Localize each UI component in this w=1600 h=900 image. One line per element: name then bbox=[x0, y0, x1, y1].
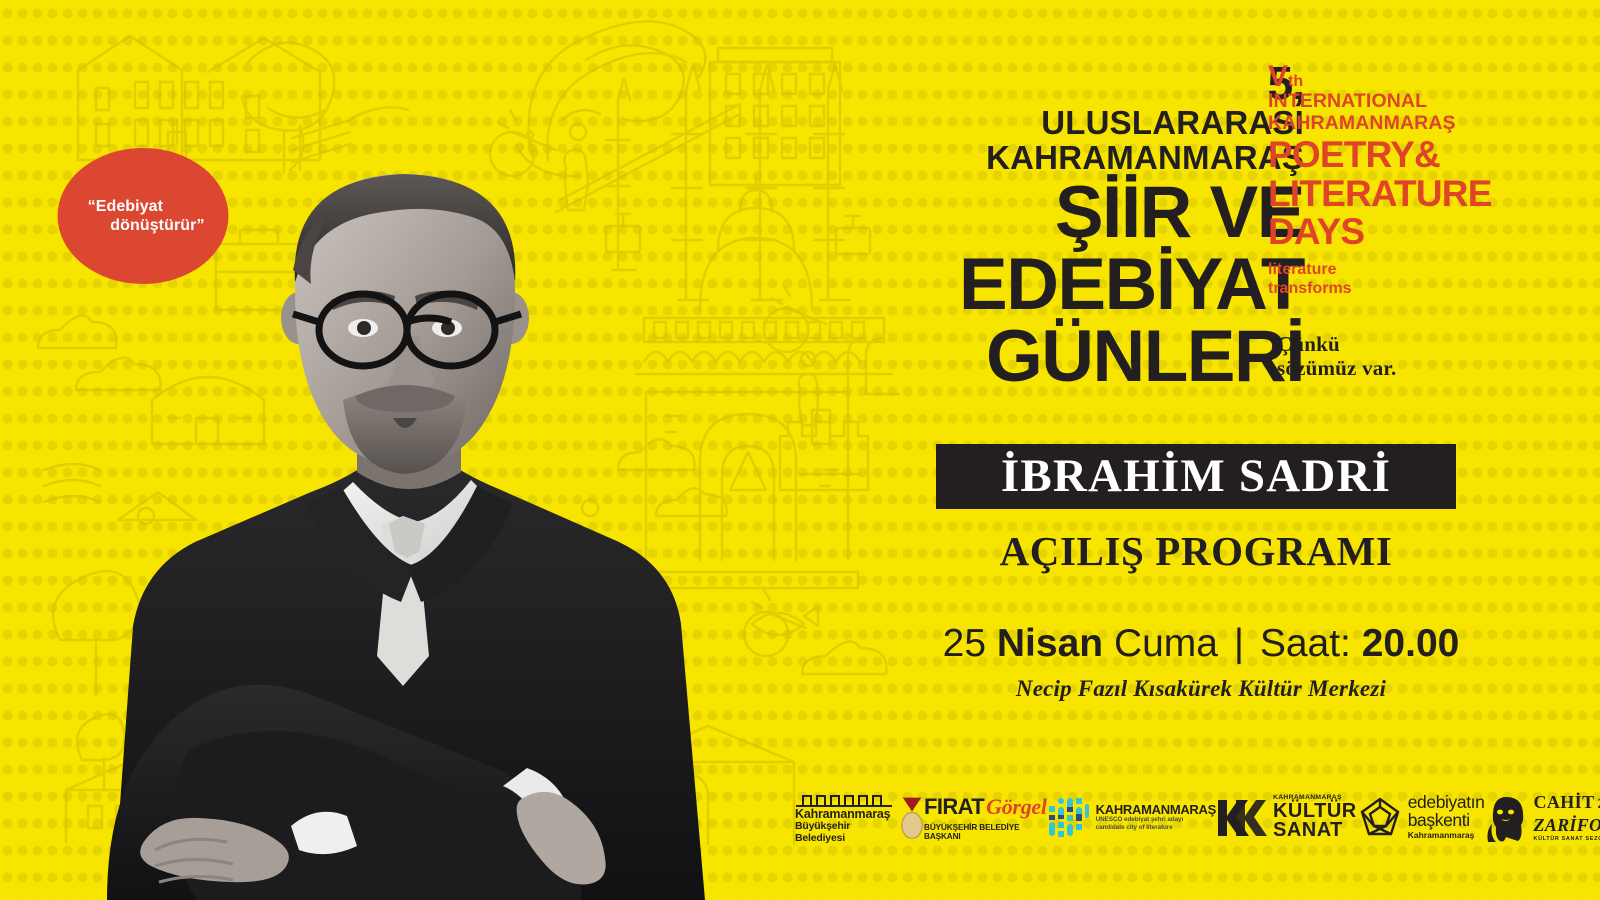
sponsor-logo-strip: Kahramanmaraş Büyükşehir Belediyesi FIRA… bbox=[795, 780, 1555, 855]
event-time: 20.00 bbox=[1362, 622, 1460, 665]
mayor-first-name: FIRAT bbox=[924, 796, 984, 818]
event-month: Nisan bbox=[997, 622, 1103, 665]
edebiyatin-line-3: Kahramanmaraş bbox=[1408, 831, 1485, 840]
logo-unesco-city-of-literature: KAHRAMANMARAŞ UNESCO edebiyat şehri aday… bbox=[1047, 796, 1216, 840]
pixel-blocks-icon bbox=[1047, 796, 1091, 840]
kks-monogram-icon bbox=[1216, 796, 1268, 840]
edebiyatin-line-2: başkenti bbox=[1408, 812, 1485, 830]
motto-text: Çünkü sözümüz var. bbox=[1277, 333, 1396, 380]
pentagon-knot-icon bbox=[1357, 795, 1403, 841]
event-poster: “Edebiyat dönüştürür” 5, ULUSLARARASI KA… bbox=[0, 0, 1600, 900]
motto-line-1: Çünkü bbox=[1277, 333, 1396, 357]
municipality-line-1: Kahramanmaraş bbox=[795, 807, 895, 821]
unesco-sub-1: UNESCO edebiyat şehri adayı bbox=[1096, 816, 1216, 824]
slogan-line-2: dönüştürür” bbox=[88, 216, 205, 235]
english-tagline-line-1: literature bbox=[1268, 261, 1568, 280]
english-line-international: INTERNATIONAL bbox=[1268, 91, 1568, 112]
unesco-title: KAHRAMANMARAŞ bbox=[1096, 803, 1216, 817]
event-time-label: Saat: bbox=[1260, 622, 1351, 665]
cahit-subtitle: KÜLTÜR SANAT SEZONU bbox=[1533, 836, 1600, 842]
kultur-sanat-line-2: SANAT bbox=[1273, 821, 1357, 841]
english-line-kahramanmaras: KAHRAMANMARAŞ bbox=[1268, 113, 1568, 134]
event-venue: Necip Fazıl Kısakürek Kültür Merkezi bbox=[936, 676, 1466, 702]
english-line-literature: LITERATURE bbox=[1268, 176, 1568, 212]
mayor-subtitle: BÜYÜKŞEHİR BELEDİYE BAŞKANI bbox=[924, 823, 1047, 841]
title-line-gunleri: GÜNLERİ bbox=[744, 322, 1304, 392]
logo-edebiyatin-baskenti: edebiyatın başkenti Kahramanmaraş bbox=[1357, 794, 1485, 840]
english-line-days: DAYS bbox=[1268, 214, 1568, 250]
crenellation-icon bbox=[795, 791, 893, 807]
slogan-badge: “Edebiyat dönüştürür” bbox=[58, 148, 229, 284]
unesco-sub-2: candidate city of literature bbox=[1096, 824, 1216, 832]
cahit-first-name: CAHİT bbox=[1533, 793, 1594, 811]
logo-kultur-sanat: KAHRAMANMARAŞ KÜLTÜR SANAT bbox=[1216, 794, 1357, 841]
event-day: 25 bbox=[943, 622, 986, 665]
program-title: AÇILIŞ PROGRAMI bbox=[936, 527, 1456, 575]
speaker-name: İBRAHİM SADRİ bbox=[1001, 453, 1391, 500]
event-weekday: Cuma bbox=[1114, 622, 1218, 665]
municipality-line-2: Büyükşehir Belediyesi bbox=[795, 821, 895, 845]
logo-firat-gorgel: FIRAT Görgel BÜYÜKŞEHİR BELEDİYE BAŞKANI bbox=[924, 794, 1047, 841]
english-tagline-line-2: transforms bbox=[1268, 280, 1568, 299]
slogan-badge-text: “Edebiyat dönüştürür” bbox=[81, 197, 204, 235]
english-tagline: literature transforms bbox=[1268, 261, 1568, 299]
cahit-zarifoglu-portrait-icon bbox=[1484, 794, 1528, 842]
english-line-poetry: POETRY& bbox=[1268, 137, 1568, 173]
title-line-edebiyat: EDEBİYAT bbox=[744, 250, 1304, 320]
english-ordinal: Vth bbox=[1268, 63, 1568, 90]
motto-line-2: sözümüz var. bbox=[1277, 357, 1396, 381]
english-ordinal-suffix: th bbox=[1288, 73, 1303, 90]
logo-cahit-zarifoglu: CAHİT 20 24 25 ZARİFOĞLU KÜLTÜR SANAT SE… bbox=[1484, 793, 1600, 841]
english-title-block: Vth INTERNATIONAL KAHRAMANMARAŞ POETRY& … bbox=[1268, 63, 1568, 298]
cahit-last-name: ZARİFOĞLU bbox=[1533, 816, 1600, 834]
event-dateline: 25 Nisan Cuma | Saat: 20.00 bbox=[936, 624, 1466, 663]
edition-number: 5, bbox=[744, 62, 1304, 104]
mayor-last-name: Görgel bbox=[986, 794, 1047, 820]
title-line-kahramanmaras: KAHRAMANMARAŞ bbox=[744, 141, 1304, 176]
turkish-title-block: 5, ULUSLARARASI KAHRAMANMARAŞ ŞİİR VE ED… bbox=[744, 62, 1304, 392]
speaker-name-bar: İBRAHİM SADRİ bbox=[936, 444, 1456, 509]
title-line-siir-ve: ŞİİR VE bbox=[744, 178, 1304, 248]
title-line-uluslararasi: ULUSLARARASI bbox=[744, 106, 1304, 141]
slogan-line-1: “Edebiyat bbox=[88, 198, 163, 215]
dateline-separator: | bbox=[1234, 622, 1244, 665]
logo-kahramanmaras-belediyesi: Kahramanmaraş Büyükşehir Belediyesi bbox=[795, 791, 924, 845]
english-ordinal-roman: V bbox=[1268, 60, 1288, 93]
medal-icon bbox=[900, 794, 924, 842]
